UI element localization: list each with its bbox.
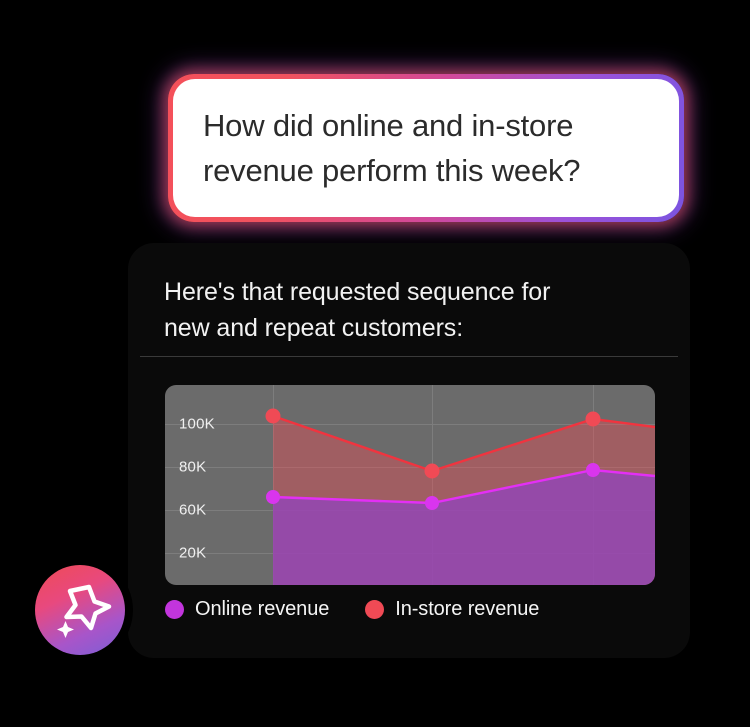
chart-legend: Online revenue In-store revenue [165,598,539,621]
data-point[interactable] [425,496,439,510]
assistant-avatar[interactable] [27,557,133,663]
response-text: Here's that requested sequence for new a… [128,243,690,346]
sparkle-star-icon [35,565,125,655]
data-point[interactable] [266,490,280,504]
legend-label-in-store: In-store revenue [395,598,539,621]
y-axis-label-2: 60K [179,502,206,519]
card-divider [140,356,678,357]
legend-item-online[interactable]: Online revenue [165,598,329,621]
legend-item-in-store[interactable]: In-store revenue [365,598,539,621]
assistant-avatar-gradient [35,565,125,655]
response-card: Here's that requested sequence for new a… [128,243,690,658]
legend-label-online: Online revenue [195,598,329,621]
legend-dot-icon [165,600,184,619]
question-bubble-inner: How did online and in-store revenue perf… [173,79,679,217]
data-point[interactable] [586,412,601,427]
y-axis-label-0: 100K [179,416,215,433]
data-point[interactable] [266,409,281,424]
response-line-1: Here's that requested sequence for [164,274,660,310]
question-bubble: How did online and in-store revenue perf… [168,74,684,222]
chart-svg [165,385,655,585]
legend-dot-icon [365,600,384,619]
question-line-1: How did online and in-store [203,103,649,148]
response-line-2: new and repeat customers: [164,310,660,346]
data-point[interactable] [586,463,600,477]
data-point[interactable] [425,464,440,479]
revenue-area-chart[interactable]: 100K 80K 60K 20K [165,385,655,585]
screenshot-root: How did online and in-store revenue perf… [0,0,750,727]
question-line-2: revenue perform this week? [203,148,649,193]
y-axis-label-3: 20K [179,545,206,562]
y-axis-label-1: 80K [179,459,206,476]
